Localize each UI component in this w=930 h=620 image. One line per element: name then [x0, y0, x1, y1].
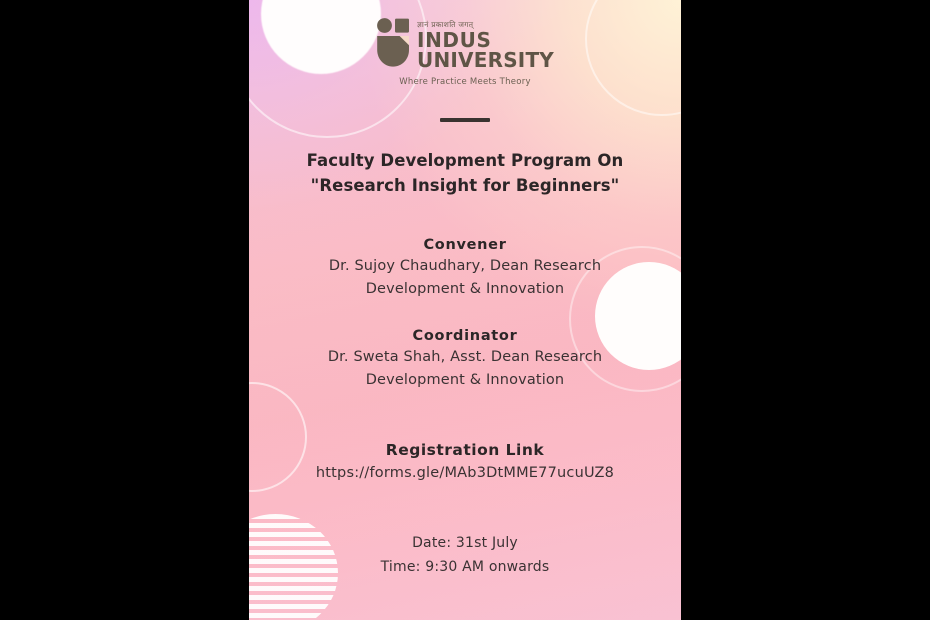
schedule-block: Date: 31st July Time: 9:30 AM onwards: [249, 531, 681, 579]
coordinator-name-line1: Dr. Sweta Shah, Asst. Dean Research: [249, 346, 681, 369]
logo-name-line1: INDUS: [417, 30, 491, 50]
registration-heading: Registration Link: [249, 439, 681, 461]
indus-university-emblem-icon: [376, 18, 410, 68]
event-date: Date: 31st July: [249, 531, 681, 555]
logo-tagline: Where Practice Meets Theory: [399, 77, 530, 87]
program-title-line1: Faculty Development Program On: [249, 148, 681, 173]
convener-heading: Convener: [249, 235, 681, 255]
event-time: Time: 9:30 AM onwards: [249, 555, 681, 579]
logo-name-line2: UNIVERSITY: [417, 50, 554, 70]
coordinator-name-line2: Development & Innovation: [249, 369, 681, 392]
convener-block: Convener Dr. Sujoy Chaudhary, Dean Resea…: [249, 235, 681, 301]
university-logo: ज्ञानं प्रकाशति जगत् INDUS UNIVERSITY Wh…: [249, 18, 681, 87]
registration-block: Registration Link https://forms.gle/MAb3…: [249, 439, 681, 485]
coordinator-heading: Coordinator: [249, 326, 681, 346]
coordinator-block: Coordinator Dr. Sweta Shah, Asst. Dean R…: [249, 326, 681, 392]
registration-link[interactable]: https://forms.gle/MAb3DtMME77ucuUZ8: [249, 461, 681, 485]
convener-name-line2: Development & Innovation: [249, 278, 681, 301]
poster-content: Faculty Development Program On "Research…: [249, 148, 681, 579]
event-poster: ज्ञानं प्रकाशति जगत् INDUS UNIVERSITY Wh…: [249, 0, 681, 620]
title-divider-rule: [440, 118, 490, 122]
convener-name-line1: Dr. Sujoy Chaudhary, Dean Research: [249, 255, 681, 278]
program-title-line2: "Research Insight for Beginners": [249, 173, 681, 198]
screenshot-canvas: ज्ञानं प्रकाशति जगत् INDUS UNIVERSITY Wh…: [0, 0, 930, 620]
program-title: Faculty Development Program On "Research…: [249, 148, 681, 198]
